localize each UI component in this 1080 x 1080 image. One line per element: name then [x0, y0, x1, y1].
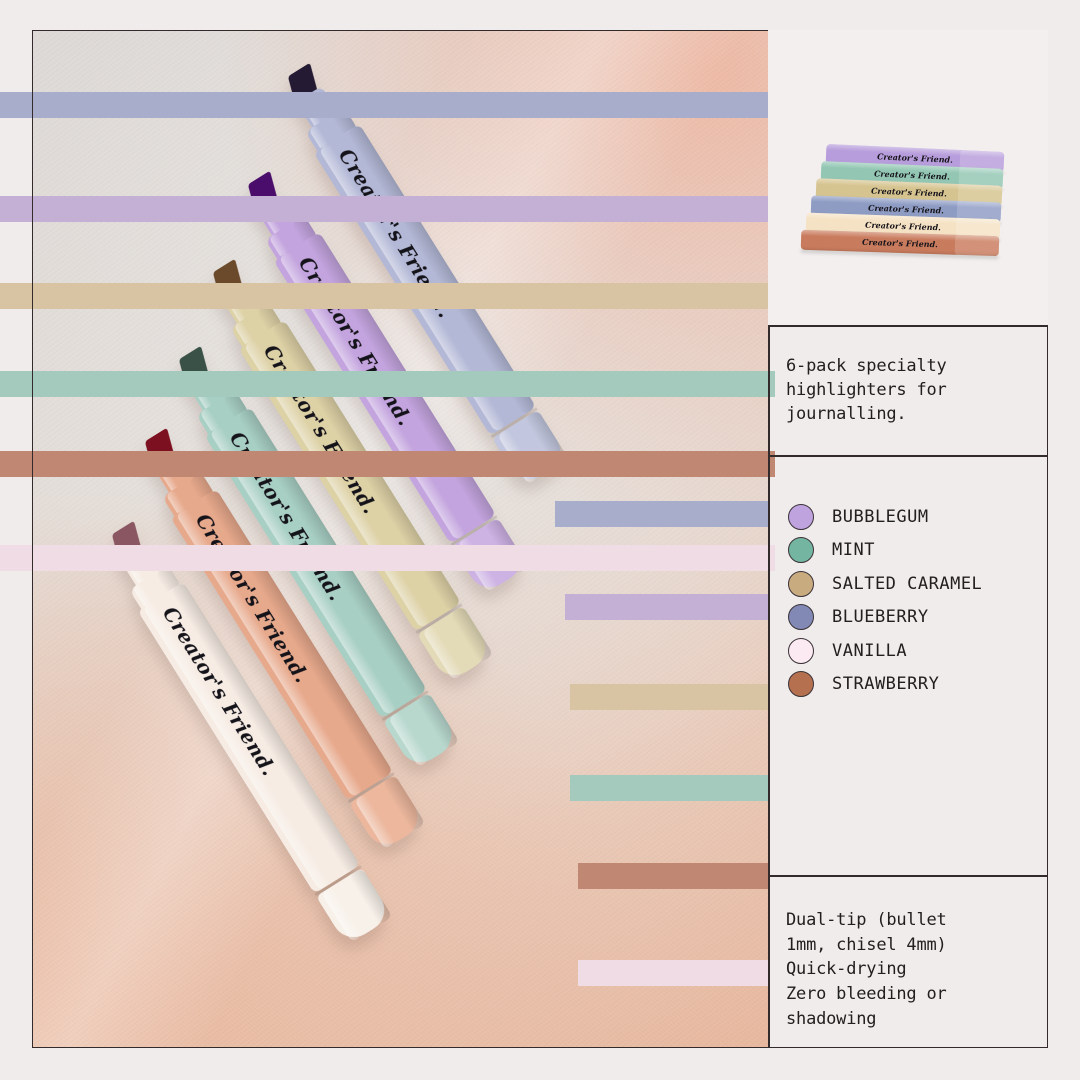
spec-line-2: 1mm, chisel 4mm)	[786, 933, 1030, 958]
thumb-brand-label: Creator's Friend.	[877, 151, 953, 164]
swatch-icon-bubblegum	[788, 504, 814, 530]
legend-item-mint[interactable]: MINT	[788, 534, 1048, 568]
swatch-icon-strawberry	[788, 671, 814, 697]
legend-item-bubblegum[interactable]: BUBBLEGUM	[788, 500, 1048, 534]
description-text: 6-pack specialty highlighters for journa…	[786, 354, 1030, 426]
thumb-brand-label: Creator's Friend.	[868, 203, 944, 216]
thumb-brand-label: Creator's Friend.	[862, 237, 938, 249]
legend-item-salted-caramel[interactable]: SALTED CARAMEL	[788, 567, 1048, 601]
thumb-brand-label: Creator's Friend.	[865, 220, 941, 233]
specs-text: Dual-tip (bullet 1mm, chisel 4mm) Quick-…	[786, 908, 1030, 1031]
description-line-3: journalling.	[786, 402, 1030, 426]
swatch-icon-mint	[788, 537, 814, 563]
poster-canvas: Creator's Friend.Creator's Friend.Creato…	[0, 0, 1080, 1080]
thumb-brand-label: Creator's Friend.	[871, 185, 947, 198]
swatch-icon-vanilla	[788, 638, 814, 664]
description-panel: 6-pack specialty highlighters for journa…	[768, 326, 1048, 455]
thumb-brand-label: Creator's Friend.	[874, 168, 950, 181]
legend-label: STRAWBERRY	[832, 674, 939, 694]
legend-item-blueberry[interactable]: BLUEBERRY	[788, 601, 1048, 635]
info-column: Creator's Friend.Creator's Friend.Creato…	[768, 30, 1048, 1048]
swatch-icon-blueberry	[788, 604, 814, 630]
swatch-icon-salted-caramel	[788, 571, 814, 597]
legend-label: SALTED CARAMEL	[832, 574, 982, 594]
legend-label: VANILLA	[832, 641, 907, 661]
spec-line-5: shadowing	[786, 1007, 1030, 1032]
legend-label: MINT	[832, 540, 875, 560]
spec-line-1: Dual-tip (bullet	[786, 908, 1030, 933]
spec-line-3: Quick-drying	[786, 957, 1030, 982]
color-legend: BUBBLEGUM MINT SALTED CARAMEL BLUEBERRY …	[768, 456, 1048, 875]
description-line-1: 6-pack specialty	[786, 354, 1030, 378]
specs-panel: Dual-tip (bullet 1mm, chisel 4mm) Quick-…	[768, 876, 1048, 1048]
legend-item-vanilla[interactable]: VANILLA	[788, 634, 1048, 668]
legend-label: BLUEBERRY	[832, 607, 929, 627]
spec-line-4: Zero bleeding or	[786, 982, 1030, 1007]
legend-item-strawberry[interactable]: STRAWBERRY	[788, 668, 1048, 702]
thumbnail-panel: Creator's Friend.Creator's Friend.Creato…	[768, 30, 1048, 325]
thumbnail-image: Creator's Friend.Creator's Friend.Creato…	[768, 30, 1048, 325]
legend-label: BUBBLEGUM	[832, 507, 929, 527]
description-line-2: highlighters for	[786, 378, 1030, 402]
